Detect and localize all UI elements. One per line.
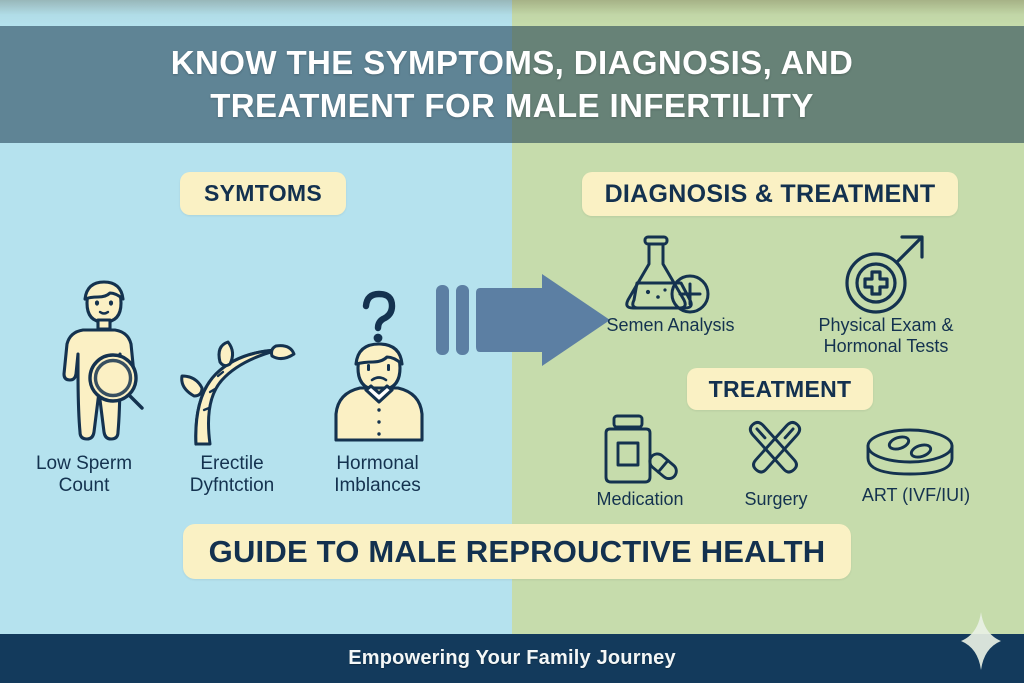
caption-semen-analysis: Semen Analysis — [578, 315, 763, 336]
caption-erectile-dysfunction: Erectile Dyfntction — [156, 453, 308, 498]
symptoms-heading-pill: SYMTOMS — [180, 172, 346, 215]
caption-hormonal-imbalances: Hormonal Imblances — [300, 453, 455, 498]
caption-line-1: Semen Analysis — [578, 315, 763, 336]
footer-bar: Empowering Your Family Journey — [0, 634, 1024, 683]
male-symbol-cross-icon — [840, 232, 930, 318]
symptoms-heading-label: SYMTOMS — [204, 180, 322, 207]
caption-art-ivf-iui: ART (IVF/IUI) — [845, 485, 987, 506]
wilting-plant-icon — [180, 338, 300, 446]
pill-bottle-icon — [602, 414, 684, 486]
crossed-scalpels-icon — [740, 414, 810, 484]
caption-low-sperm-count: Low Sperm Count — [8, 453, 160, 498]
caption-line-2: Hormonal Tests — [790, 336, 982, 357]
treatment-heading-label: TREATMENT — [709, 376, 852, 403]
caption-line-2: Imblances — [300, 475, 455, 497]
diagnosis-treatment-heading-pill: DIAGNOSIS & TREATMENT — [582, 172, 958, 216]
caption-line-1: Physical Exam & — [790, 315, 982, 336]
caption-line-1: Low Sperm — [8, 453, 160, 475]
footer-tagline: Empowering Your Family Journey — [348, 647, 676, 670]
caption-medication: Medication — [575, 489, 705, 510]
flask-plus-icon — [620, 234, 716, 318]
caption-line-2: Dyfntction — [156, 475, 308, 497]
guide-banner-pill: GUIDE TO MALE REPROUCTIVE HEALTH — [183, 524, 851, 579]
caption-physical-exam-hormonal-tests: Physical Exam & Hormonal Tests — [790, 315, 982, 357]
worried-person-question-icon — [320, 280, 438, 442]
infographic-canvas: KNOW THE SYMPTOMS, DIAGNOSIS, AND TREATM… — [0, 0, 1024, 683]
header-band: KNOW THE SYMPTOMS, DIAGNOSIS, AND TREATM… — [0, 26, 1024, 143]
caption-line-1: Hormonal — [300, 453, 455, 475]
caption-surgery: Surgery — [716, 489, 836, 510]
petri-dish-icon — [865, 426, 955, 484]
guide-banner-label: GUIDE TO MALE REPROUCTIVE HEALTH — [209, 534, 826, 570]
page-title: KNOW THE SYMPTOMS, DIAGNOSIS, AND TREATM… — [97, 42, 927, 128]
treatment-heading-pill: TREATMENT — [687, 368, 873, 410]
person-with-magnifier-icon — [40, 272, 168, 447]
top-vignette — [0, 0, 1024, 27]
caption-line-2: Count — [8, 475, 160, 497]
caption-line-1: Erectile — [156, 453, 308, 475]
diagnosis-treatment-heading-label: DIAGNOSIS & TREATMENT — [605, 180, 936, 209]
